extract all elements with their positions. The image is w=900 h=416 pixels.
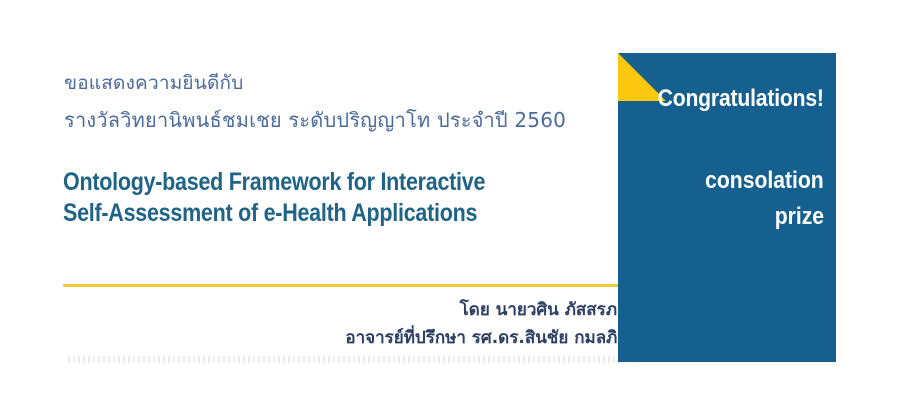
greeting-line-1: ขอแสดงความยินดีกับ — [64, 68, 243, 98]
ribbon-award-line-1: consolation — [705, 167, 824, 195]
ribbon-award-line-2: prize — [775, 203, 824, 231]
thesis-title-line-1: Ontology-based Framework for Interactive — [63, 168, 485, 197]
ribbon-headline: Congratulations! — [658, 85, 824, 113]
gold-divider-rule — [63, 284, 629, 287]
thesis-title-line-2: Self-Assessment of e-Health Applications — [63, 199, 477, 228]
congratulations-panel: Congratulations! consolation prize — [618, 53, 836, 362]
credits-advisor: อาจารย์ที่ปรึกษา รศ.ดร.สินชัย กมลภิวงศ์ — [345, 324, 646, 351]
cropped-text-strip — [68, 356, 648, 363]
greeting-line-2: รางวัลวิทยานิพนธ์ชมเชย ระดับปริญญาโท ประ… — [64, 104, 566, 136]
award-announcement-card: ขอแสดงความยินดีกับ รางวัลวิทยานิพนธ์ชมเช… — [0, 0, 900, 416]
